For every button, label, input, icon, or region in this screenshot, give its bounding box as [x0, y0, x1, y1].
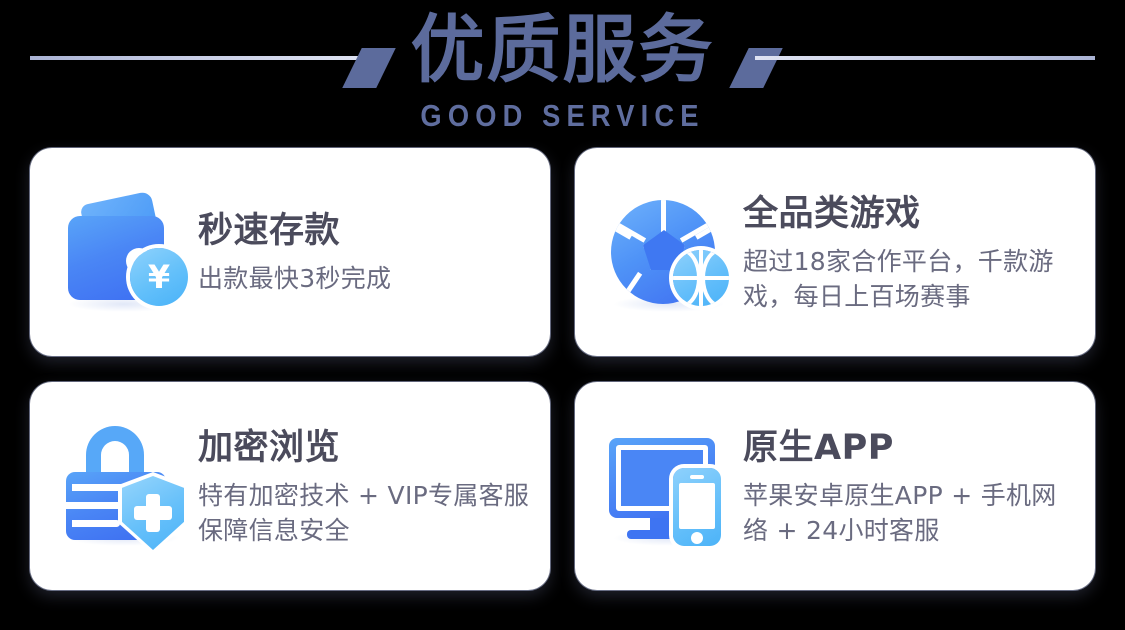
phone-speaker [690, 475, 704, 479]
card-title: 原生APP [743, 425, 1075, 471]
promo-panel: 优质服务 GOOD SERVICE ¥ 秒速存款 出款最快3秒完成 [0, 0, 1125, 630]
basketball-icon [673, 250, 729, 306]
card-description: 苹果安卓原生APP + 手机网络 + 24小时客服 [743, 478, 1075, 548]
yen-symbol: ¥ [130, 248, 188, 306]
card-title: 全品类游戏 [743, 191, 1075, 237]
card-description: 特有加密技术 + VIP专属客服保障信息安全 [198, 478, 530, 548]
card-text-block: 加密浏览 特有加密技术 + VIP专属客服保障信息安全 [198, 425, 530, 548]
feature-card-grid: ¥ 秒速存款 出款最快3秒完成 [30, 148, 1095, 598]
monitor-phone-icon [605, 420, 737, 552]
card-text-block: 原生APP 苹果安卓原生APP + 手机网络 + 24小时客服 [743, 425, 1075, 548]
feature-card-deposit[interactable]: ¥ 秒速存款 出款最快3秒完成 [30, 148, 550, 356]
cross-icon [134, 506, 172, 520]
phone-home-button [691, 532, 703, 544]
feature-card-encryption[interactable]: 加密浏览 特有加密技术 + VIP专属客服保障信息安全 [30, 382, 550, 590]
card-description: 超过18家合作平台，千款游戏，每日上百场赛事 [743, 244, 1075, 314]
section-header: 优质服务 GOOD SERVICE [0, 0, 1125, 140]
basketball-arc [673, 250, 701, 306]
page-title: 优质服务 [0, 6, 1125, 94]
card-text-block: 秒速存款 出款最快3秒完成 [198, 208, 530, 296]
yen-coin-icon: ¥ [130, 248, 188, 306]
page-subtitle: GOOD SERVICE [68, 98, 1058, 134]
basketball-arc [701, 250, 729, 306]
lock-stripe [72, 520, 120, 527]
soccer-basketball-icon [605, 186, 737, 318]
ball-seam [661, 200, 666, 232]
feature-card-native-app[interactable]: 原生APP 苹果安卓原生APP + 手机网络 + 24小时客服 [575, 382, 1095, 590]
lock-shield-icon [60, 420, 192, 552]
card-text-block: 全品类游戏 超过18家合作平台，千款游戏，每日上百场赛事 [743, 191, 1075, 314]
feature-card-games[interactable]: 全品类游戏 超过18家合作平台，千款游戏，每日上百场赛事 [575, 148, 1095, 356]
card-description: 出款最快3秒完成 [198, 261, 530, 296]
card-title: 加密浏览 [198, 425, 530, 471]
card-title: 秒速存款 [198, 208, 530, 254]
phone-icon [673, 468, 721, 546]
phone-screen [679, 483, 715, 529]
wallet-yen-icon: ¥ [60, 186, 192, 318]
